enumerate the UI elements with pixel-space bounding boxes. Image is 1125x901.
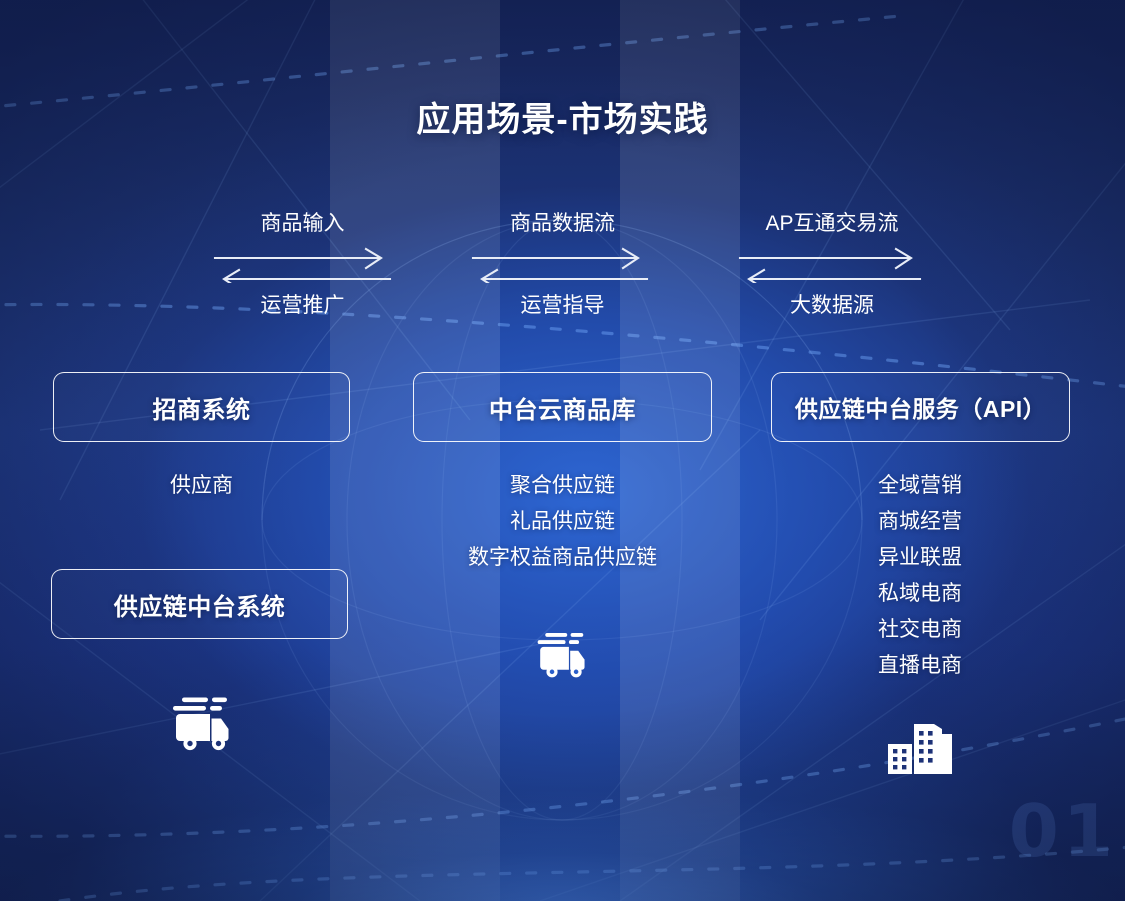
list-middle-capabilities: 聚合供应链 礼品供应链 数字权益商品供应链	[383, 468, 742, 576]
list-item: 社交电商	[790, 612, 1050, 648]
box-cloud-product-library[interactable]: 中台云商品库	[413, 372, 712, 442]
flow-bottom-label: 大数据源	[718, 295, 946, 316]
list-item: 数字权益商品供应链	[383, 540, 742, 576]
flow-arrow-pair	[718, 247, 946, 283]
list-item: 直播电商	[790, 648, 1050, 684]
list-item: 全域营销	[790, 468, 1050, 504]
box-supply-chain-middle-platform-system[interactable]: 供应链中台系统	[51, 569, 348, 639]
box-recruitment-system[interactable]: 招商系统	[53, 372, 350, 442]
slide-canvas: 01 应用场景-市场实践 商品输入 运营推广 商品数据流	[0, 0, 1125, 901]
flow-top-label: AP互通交易流	[718, 213, 946, 234]
flow-bottom-label: 运营指导	[455, 295, 670, 316]
flow-group-cloud-to-api: AP互通交易流 大数据源	[718, 213, 946, 316]
flow-top-label: 商品数据流	[455, 213, 670, 234]
flow-bottom-label: 运营推广	[190, 295, 415, 316]
flow-group-platform-to-cloud: 商品数据流 运营指导	[455, 213, 670, 316]
list-right-scenarios: 全域营销 商城经营 异业联盟 私域电商 社交电商 直播电商	[790, 468, 1050, 684]
flow-top-label: 商品输入	[190, 213, 415, 234]
office-buildings-icon	[886, 718, 954, 774]
delivery-truck-icon	[170, 694, 236, 752]
flow-group-supplier-to-platform: 商品输入 运营推广	[190, 213, 415, 316]
delivery-truck-icon	[535, 630, 591, 679]
list-item: 私域电商	[790, 576, 1050, 612]
list-item: 供应商	[53, 468, 350, 504]
list-item: 异业联盟	[790, 540, 1050, 576]
page-title: 应用场景-市场实践	[0, 92, 1125, 141]
flow-arrow-pair	[455, 247, 670, 283]
list-item: 聚合供应链	[383, 468, 742, 504]
list-item: 商城经营	[790, 504, 1050, 540]
list-item: 礼品供应链	[383, 504, 742, 540]
flow-arrow-pair	[190, 247, 415, 283]
box-supply-chain-platform-service-api[interactable]: 供应链中台服务（API）	[771, 372, 1070, 442]
label-supplier: 供应商	[53, 468, 350, 504]
